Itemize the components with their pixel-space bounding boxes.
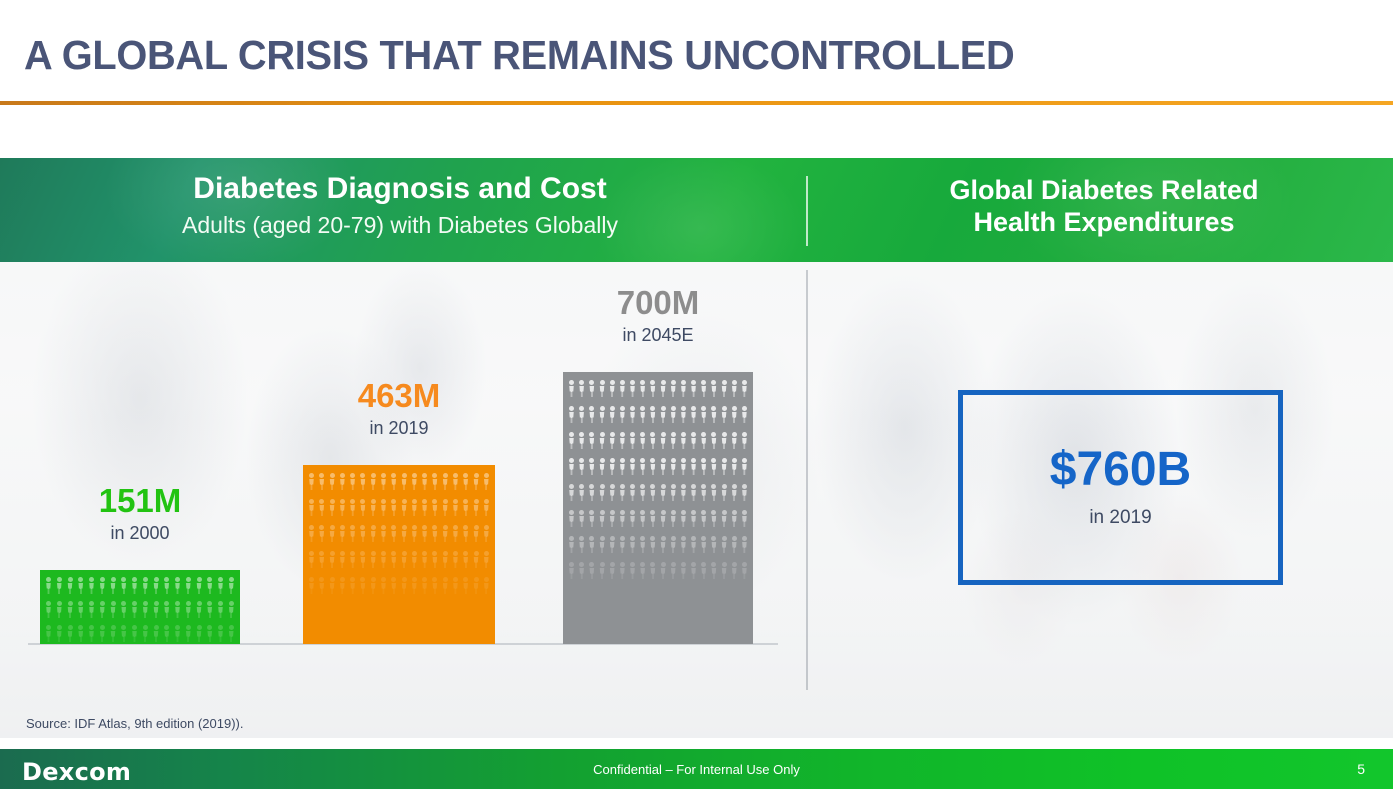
person-icon (329, 499, 336, 516)
person-icon (670, 536, 677, 553)
person-icon (710, 432, 717, 449)
person-icon (421, 499, 428, 516)
person-icon (67, 601, 74, 618)
person-icon (599, 484, 606, 501)
person-icon (721, 380, 728, 397)
person-icon (741, 432, 748, 449)
content-panel: Diabetes Diagnosis and Cost Adults (aged… (0, 158, 1393, 738)
person-icon (639, 510, 646, 527)
person-icon (599, 380, 606, 397)
person-icon (56, 577, 63, 594)
person-icon (401, 525, 408, 542)
person-icon (462, 525, 469, 542)
person-icon (442, 499, 449, 516)
person-icon (217, 577, 224, 594)
person-icon (228, 577, 235, 594)
person-icon (349, 473, 356, 490)
person-icon (390, 525, 397, 542)
person-icon (731, 432, 738, 449)
person-icon (401, 551, 408, 568)
person-icon (660, 536, 667, 553)
person-icon (609, 458, 616, 475)
person-icon (741, 536, 748, 553)
person-icon (670, 406, 677, 423)
person-icon (619, 510, 626, 527)
person-icon (473, 473, 480, 490)
person-icon (629, 406, 636, 423)
person-icon (349, 551, 356, 568)
person-icon (359, 551, 366, 568)
person-icon (578, 510, 585, 527)
panel-divider-body (806, 270, 808, 690)
expenditure-value: $760B (1050, 446, 1191, 494)
person-icon (660, 458, 667, 475)
person-icon (390, 551, 397, 568)
person-icon (318, 499, 325, 516)
person-icon (568, 536, 575, 553)
source-note: Source: IDF Atlas, 9th edition (2019)). (26, 716, 244, 731)
person-icon (99, 625, 106, 642)
person-icon (639, 406, 646, 423)
person-icon (609, 432, 616, 449)
person-icon (370, 499, 377, 516)
person-icon (308, 525, 315, 542)
pictogram-fill-2000 (40, 570, 240, 644)
person-icon (462, 577, 469, 594)
person-icon (228, 601, 235, 618)
person-icon (609, 562, 616, 579)
pictogram-row (303, 473, 495, 490)
person-icon (741, 458, 748, 475)
person-icon (568, 562, 575, 579)
page-number: 5 (1357, 761, 1365, 777)
pictogram-bar-chart: 151M in 2000 463M in 2019 700M in 2045E (0, 262, 806, 738)
person-icon (710, 484, 717, 501)
person-icon (578, 484, 585, 501)
footer-band: Dexcom Confidential – For Internal Use O… (0, 749, 1393, 789)
person-icon (206, 625, 213, 642)
person-icon (452, 551, 459, 568)
person-icon (660, 510, 667, 527)
person-icon (308, 499, 315, 516)
person-icon (680, 536, 687, 553)
header-right-title-line2: Health Expenditures (815, 207, 1393, 239)
person-icon (483, 577, 490, 594)
pictogram-row (40, 601, 240, 618)
person-icon (349, 525, 356, 542)
person-icon (131, 601, 138, 618)
person-icon (680, 484, 687, 501)
person-icon (741, 406, 748, 423)
person-icon (153, 625, 160, 642)
pictogram-row (303, 499, 495, 516)
person-icon (421, 473, 428, 490)
person-icon (370, 473, 377, 490)
person-icon (442, 525, 449, 542)
title-area: A GLOBAL CRISIS THAT REMAINS UNCONTROLLE… (0, 0, 1393, 105)
person-icon (609, 536, 616, 553)
slide: A GLOBAL CRISIS THAT REMAINS UNCONTROLLE… (0, 0, 1393, 789)
person-icon (710, 562, 717, 579)
person-icon (690, 380, 697, 397)
bar-rect-2045 (563, 372, 753, 644)
person-icon (185, 601, 192, 618)
person-icon (568, 380, 575, 397)
person-icon (483, 473, 490, 490)
person-icon (660, 432, 667, 449)
person-icon (731, 510, 738, 527)
person-icon (77, 577, 84, 594)
person-icon (629, 484, 636, 501)
person-icon (431, 525, 438, 542)
person-icon (700, 484, 707, 501)
pictogram-row (563, 380, 753, 397)
person-icon (710, 380, 717, 397)
bar-rect-2000 (40, 570, 240, 644)
person-icon (473, 577, 480, 594)
person-icon (680, 432, 687, 449)
person-icon (670, 484, 677, 501)
person-icon (483, 499, 490, 516)
person-icon (401, 499, 408, 516)
person-icon (629, 380, 636, 397)
pictogram-row (563, 432, 753, 449)
person-icon (731, 562, 738, 579)
person-icon (599, 536, 606, 553)
person-icon (660, 562, 667, 579)
person-icon (174, 625, 181, 642)
person-icon (710, 406, 717, 423)
person-icon (339, 473, 346, 490)
person-icon (110, 577, 117, 594)
person-icon (649, 484, 656, 501)
bar-value-2000: 151M (40, 482, 240, 520)
person-icon (700, 510, 707, 527)
bar-rect-2019 (303, 465, 495, 644)
person-icon (649, 406, 656, 423)
person-icon (690, 432, 697, 449)
person-icon (142, 625, 149, 642)
person-icon (421, 551, 428, 568)
person-icon (329, 473, 336, 490)
person-icon (370, 525, 377, 542)
person-icon (228, 625, 235, 642)
pictogram-row (563, 458, 753, 475)
person-icon (196, 625, 203, 642)
person-icon (421, 525, 428, 542)
person-icon (721, 536, 728, 553)
person-icon (639, 380, 646, 397)
person-icon (599, 432, 606, 449)
pictogram-row (563, 562, 753, 579)
person-icon (588, 536, 595, 553)
person-icon (670, 432, 677, 449)
person-icon (99, 601, 106, 618)
confidentiality-notice: Confidential – For Internal Use Only (0, 762, 1393, 777)
person-icon (390, 473, 397, 490)
person-icon (473, 551, 480, 568)
person-icon (359, 577, 366, 594)
person-icon (721, 484, 728, 501)
panel-divider-header (806, 176, 808, 246)
person-icon (721, 510, 728, 527)
person-icon (690, 562, 697, 579)
person-icon (431, 577, 438, 594)
person-icon (649, 432, 656, 449)
pictogram-row (563, 536, 753, 553)
person-icon (609, 484, 616, 501)
person-icon (318, 473, 325, 490)
person-icon (483, 551, 490, 568)
person-icon (452, 499, 459, 516)
person-icon (741, 510, 748, 527)
person-icon (473, 499, 480, 516)
person-icon (131, 625, 138, 642)
person-icon (721, 432, 728, 449)
bar-year-2000: in 2000 (40, 523, 240, 544)
person-icon (174, 577, 181, 594)
person-icon (588, 562, 595, 579)
pictogram-fill-2045 (563, 372, 753, 588)
person-icon (390, 577, 397, 594)
person-icon (578, 406, 585, 423)
person-icon (680, 458, 687, 475)
person-icon (588, 380, 595, 397)
person-icon (619, 536, 626, 553)
person-icon (401, 577, 408, 594)
person-icon (452, 525, 459, 542)
person-icon (421, 577, 428, 594)
person-icon (588, 484, 595, 501)
person-icon (110, 625, 117, 642)
bar-year-2019: in 2019 (303, 418, 495, 439)
person-icon (163, 601, 170, 618)
person-icon (45, 577, 52, 594)
person-icon (731, 380, 738, 397)
person-icon (731, 406, 738, 423)
person-icon (588, 406, 595, 423)
person-icon (411, 473, 418, 490)
person-icon (452, 473, 459, 490)
person-icon (639, 458, 646, 475)
person-icon (741, 484, 748, 501)
person-icon (329, 577, 336, 594)
person-icon (390, 499, 397, 516)
person-icon (431, 551, 438, 568)
person-icon (639, 562, 646, 579)
bar-year-2045: in 2045E (563, 325, 753, 346)
person-icon (670, 562, 677, 579)
person-icon (599, 406, 606, 423)
person-icon (88, 577, 95, 594)
person-icon (629, 510, 636, 527)
person-icon (359, 525, 366, 542)
person-icon (639, 432, 646, 449)
person-icon (629, 536, 636, 553)
person-icon (690, 484, 697, 501)
person-icon (163, 577, 170, 594)
person-icon (670, 458, 677, 475)
person-icon (649, 562, 656, 579)
person-icon (629, 458, 636, 475)
person-icon (339, 525, 346, 542)
pictogram-row (40, 577, 240, 594)
person-icon (442, 473, 449, 490)
person-icon (568, 484, 575, 501)
pictogram-row (303, 525, 495, 542)
person-icon (721, 458, 728, 475)
bar-value-2019: 463M (303, 377, 495, 415)
person-icon (700, 458, 707, 475)
person-icon (462, 551, 469, 568)
person-icon (609, 510, 616, 527)
person-icon (710, 458, 717, 475)
person-icon (599, 562, 606, 579)
person-icon (588, 432, 595, 449)
person-icon (452, 577, 459, 594)
person-icon (217, 625, 224, 642)
person-icon (339, 551, 346, 568)
person-icon (206, 577, 213, 594)
person-icon (349, 499, 356, 516)
person-icon (370, 551, 377, 568)
person-icon (483, 525, 490, 542)
person-icon (45, 601, 52, 618)
person-icon (77, 625, 84, 642)
person-icon (411, 499, 418, 516)
expenditure-year: in 2019 (1089, 507, 1151, 529)
person-icon (308, 577, 315, 594)
person-icon (77, 601, 84, 618)
person-icon (670, 380, 677, 397)
person-icon (329, 551, 336, 568)
person-icon (99, 577, 106, 594)
title-underline-rule (0, 101, 1393, 105)
person-icon (578, 562, 585, 579)
person-icon (670, 510, 677, 527)
person-icon (680, 510, 687, 527)
person-icon (120, 625, 127, 642)
person-icon (401, 473, 408, 490)
person-icon (56, 625, 63, 642)
person-icon (380, 525, 387, 542)
pictogram-row (303, 577, 495, 594)
person-icon (339, 499, 346, 516)
person-icon (462, 473, 469, 490)
person-icon (163, 625, 170, 642)
person-icon (308, 473, 315, 490)
person-icon (690, 536, 697, 553)
person-icon (700, 536, 707, 553)
person-icon (88, 625, 95, 642)
person-icon (131, 577, 138, 594)
person-icon (731, 484, 738, 501)
person-icon (370, 577, 377, 594)
person-icon (578, 380, 585, 397)
person-icon (639, 484, 646, 501)
person-icon (88, 601, 95, 618)
pictogram-row (303, 551, 495, 568)
person-icon (619, 406, 626, 423)
person-icon (700, 380, 707, 397)
person-icon (67, 577, 74, 594)
person-icon (741, 380, 748, 397)
person-icon (649, 510, 656, 527)
person-icon (308, 551, 315, 568)
pictogram-fill-2019 (303, 465, 495, 603)
person-icon (700, 432, 707, 449)
person-icon (380, 473, 387, 490)
person-icon (411, 577, 418, 594)
person-icon (588, 458, 595, 475)
person-icon (196, 601, 203, 618)
person-icon (318, 525, 325, 542)
person-icon (721, 562, 728, 579)
person-icon (380, 551, 387, 568)
header-left-subtitle: Adults (aged 20-79) with Diabetes Global… (0, 212, 800, 239)
person-icon (710, 536, 717, 553)
person-icon (619, 380, 626, 397)
person-icon (578, 432, 585, 449)
person-icon (217, 601, 224, 618)
person-icon (629, 562, 636, 579)
person-icon (639, 536, 646, 553)
person-icon (380, 499, 387, 516)
person-icon (741, 562, 748, 579)
person-icon (411, 551, 418, 568)
person-icon (442, 551, 449, 568)
person-icon (359, 473, 366, 490)
person-icon (67, 625, 74, 642)
person-icon (619, 432, 626, 449)
person-icon (619, 562, 626, 579)
person-icon (649, 536, 656, 553)
person-icon (680, 380, 687, 397)
expenditure-callout-box: $760B in 2019 (958, 390, 1283, 585)
person-icon (380, 577, 387, 594)
person-icon (609, 380, 616, 397)
person-icon (318, 551, 325, 568)
person-icon (578, 458, 585, 475)
person-icon (568, 432, 575, 449)
person-icon (142, 577, 149, 594)
person-icon (431, 499, 438, 516)
person-icon (680, 562, 687, 579)
person-icon (462, 499, 469, 516)
person-icon (568, 510, 575, 527)
bar-value-2045: 700M (563, 284, 753, 322)
person-icon (690, 510, 697, 527)
person-icon (56, 601, 63, 618)
person-icon (619, 484, 626, 501)
person-icon (359, 499, 366, 516)
person-icon (609, 406, 616, 423)
person-icon (599, 510, 606, 527)
person-icon (339, 577, 346, 594)
person-icon (473, 525, 480, 542)
person-icon (731, 458, 738, 475)
person-icon (206, 601, 213, 618)
person-icon (690, 458, 697, 475)
person-icon (110, 601, 117, 618)
person-icon (442, 577, 449, 594)
person-icon (660, 484, 667, 501)
person-icon (619, 458, 626, 475)
header-left-group: Diabetes Diagnosis and Cost Adults (aged… (0, 158, 800, 262)
person-icon (185, 625, 192, 642)
person-icon (45, 625, 52, 642)
person-icon (599, 458, 606, 475)
